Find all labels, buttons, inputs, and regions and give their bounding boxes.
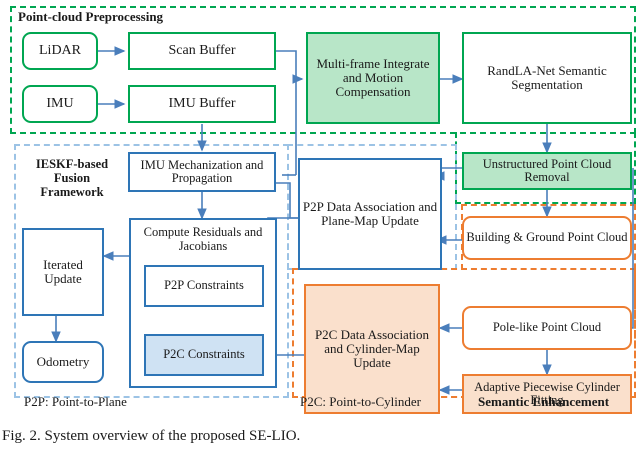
node-unstructured-point-cloud-removal[interactable]: Unstructured Point Cloud Removal (462, 152, 632, 190)
node-pole-like-point-cloud[interactable]: Pole-like Point Cloud (462, 306, 632, 350)
node-iterated-update[interactable]: Iterated Update (22, 228, 104, 316)
figure-canvas: Point-cloud Preprocessing IESKF-based Fu… (0, 0, 640, 458)
node-p2p-data-association[interactable]: P2P Data Association and Plane-Map Updat… (298, 158, 442, 270)
legend-p2c: P2C: Point-to-Cylinder (300, 394, 421, 410)
node-imu-buffer-label: IMU Buffer (166, 96, 237, 111)
node-multi-frame-label: Multi-frame Integrate and Motion Compens… (308, 57, 438, 99)
region-label-preprocessing: Point-cloud Preprocessing (18, 10, 163, 25)
node-imu-mechanization-label: IMU Mechanization and Propagation (130, 159, 274, 186)
node-lidar-label: LiDAR (37, 43, 83, 58)
node-imu-buffer[interactable]: IMU Buffer (128, 85, 276, 123)
node-p2c-constraints-label: P2C Constraints (161, 348, 247, 362)
node-lidar[interactable]: LiDAR (22, 32, 98, 70)
node-p2p-data-label: P2P Data Association and Plane-Map Updat… (300, 200, 440, 228)
figure-caption: Fig. 2. System overview of the proposed … (2, 428, 300, 445)
node-p2c-data-label: P2C Data Association and Cylinder-Map Up… (306, 328, 438, 370)
node-building-ground-point-cloud[interactable]: Building & Ground Point Cloud (462, 216, 632, 260)
node-p2c-constraints[interactable]: P2C Constraints (144, 334, 264, 376)
node-imu-mechanization[interactable]: IMU Mechanization and Propagation (128, 152, 276, 192)
node-randla-label: RandLA-Net Semantic Segmentation (464, 64, 630, 92)
node-pole-like-label: Pole-like Point Cloud (491, 321, 603, 335)
node-odometry[interactable]: Odometry (22, 341, 104, 383)
legend-p2p: P2P: Point-to-Plane (24, 394, 127, 410)
node-p2p-constraints-label: P2P Constraints (162, 279, 246, 293)
node-p2p-constraints[interactable]: P2P Constraints (144, 265, 264, 307)
node-multi-frame-integrate[interactable]: Multi-frame Integrate and Motion Compens… (306, 32, 440, 124)
node-imu[interactable]: IMU (22, 85, 98, 123)
node-imu-label: IMU (44, 96, 75, 111)
legend-semantic-enhancement: Semantic Enhancement (478, 394, 609, 410)
node-iterated-update-label: Iterated Update (24, 258, 102, 286)
node-scan-buffer[interactable]: Scan Buffer (128, 32, 276, 70)
node-compute-residuals-label: Compute Residuals and Jacobians (131, 226, 275, 253)
node-randla-net-segmentation[interactable]: RandLA-Net Semantic Segmentation (462, 32, 632, 124)
node-scan-buffer-label: Scan Buffer (167, 43, 238, 58)
node-building-ground-label: Building & Ground Point Cloud (464, 231, 629, 245)
node-unstructured-removal-label: Unstructured Point Cloud Removal (464, 158, 630, 185)
region-label-ieskf: IESKF-based Fusion Framework (18, 157, 126, 199)
node-odometry-label: Odometry (35, 355, 92, 369)
